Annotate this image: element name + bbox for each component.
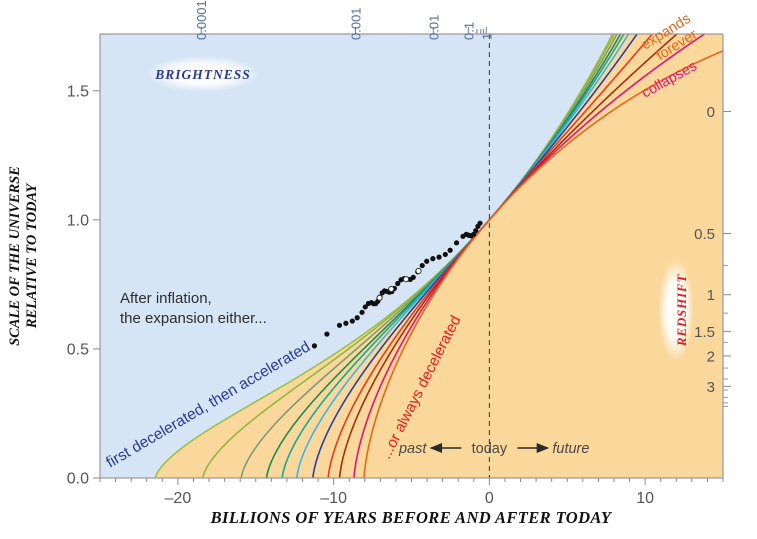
y-axis-title-line2: RELATIVE TO TODAY <box>24 183 40 330</box>
redshift-tick-label: 1.5 <box>694 324 715 341</box>
data-point <box>363 304 368 309</box>
data-point <box>312 343 317 348</box>
data-point <box>324 331 329 336</box>
x-tick-label: 0 <box>485 490 494 507</box>
x-tick-label: –10 <box>320 490 347 507</box>
data-point <box>454 240 459 245</box>
brightness-tick-label: 0.1 <box>461 22 476 40</box>
svg-text:0.01: 0.01 <box>426 15 441 40</box>
svg-text:0.1: 0.1 <box>461 22 476 40</box>
brightness-tick-label: 0.01 <box>426 15 441 40</box>
data-point-open <box>389 286 394 291</box>
y-tick-label: 1.0 <box>67 212 89 229</box>
data-point <box>448 248 453 253</box>
brightness-tick-label: 0.001 <box>348 7 363 40</box>
redshift-tick-label: 3 <box>707 379 715 396</box>
y-axis-title: SCALE OF THE UNIVERSE RELATIVE TO TODAY <box>7 166 40 346</box>
x-axis-title: BILLIONS OF YEARS BEFORE AND AFTER TODAY <box>210 508 613 527</box>
data-point <box>430 256 435 261</box>
y-tick-label: 0.0 <box>67 471 89 488</box>
brightness-tick-label: 0.0001 <box>194 0 209 40</box>
redshift-label-text: REDSHIFT <box>674 274 689 347</box>
brightness-axis-label: BRIGHTNESS <box>147 56 259 92</box>
after-inflation-line1: After inflation, <box>120 290 212 307</box>
data-point <box>337 323 342 328</box>
chart-canvas: –20–10010 0.00.51.01.5 0.00010.0010.010.… <box>0 0 757 539</box>
data-point <box>424 259 429 264</box>
data-point-open <box>416 268 421 273</box>
data-point <box>420 263 425 268</box>
svg-text:0.0001: 0.0001 <box>194 0 209 40</box>
redshift-tick-label: 1 <box>707 287 715 304</box>
data-point <box>460 234 465 239</box>
past-label: past <box>398 441 427 457</box>
future-label: future <box>552 441 589 457</box>
data-point <box>343 321 348 326</box>
data-point <box>359 310 364 315</box>
redshift-axis-label: REDSHIFT <box>658 258 694 362</box>
data-point <box>436 255 441 260</box>
data-point <box>355 315 360 320</box>
redshift-tick-label: 0 <box>707 104 715 121</box>
data-point <box>350 318 355 323</box>
y-tick-label: 0.5 <box>67 341 89 358</box>
brightness-tick-label: 1 <box>479 33 494 40</box>
redshift-tick-label: 0.5 <box>694 226 715 243</box>
x-tick-label: –20 <box>165 490 192 507</box>
svg-text:1: 1 <box>479 33 494 40</box>
data-point <box>395 281 400 286</box>
y-axis-title-line1: SCALE OF THE UNIVERSE <box>7 166 23 346</box>
after-inflation-line2: the expansion either... <box>120 310 267 327</box>
cosmology-expansion-chart: –20–10010 0.00.51.01.5 0.00010.0010.010.… <box>0 0 757 539</box>
x-tick-label: 10 <box>636 490 654 507</box>
redshift-tick-label: 2 <box>707 348 715 365</box>
y-tick-label: 1.5 <box>67 83 89 100</box>
data-point-open <box>377 295 382 300</box>
today-label: today <box>472 441 508 457</box>
svg-text:0.001: 0.001 <box>348 7 363 40</box>
brightness-label-text: BRIGHTNESS <box>154 67 251 82</box>
data-point-open <box>403 277 408 282</box>
data-point <box>443 252 448 257</box>
